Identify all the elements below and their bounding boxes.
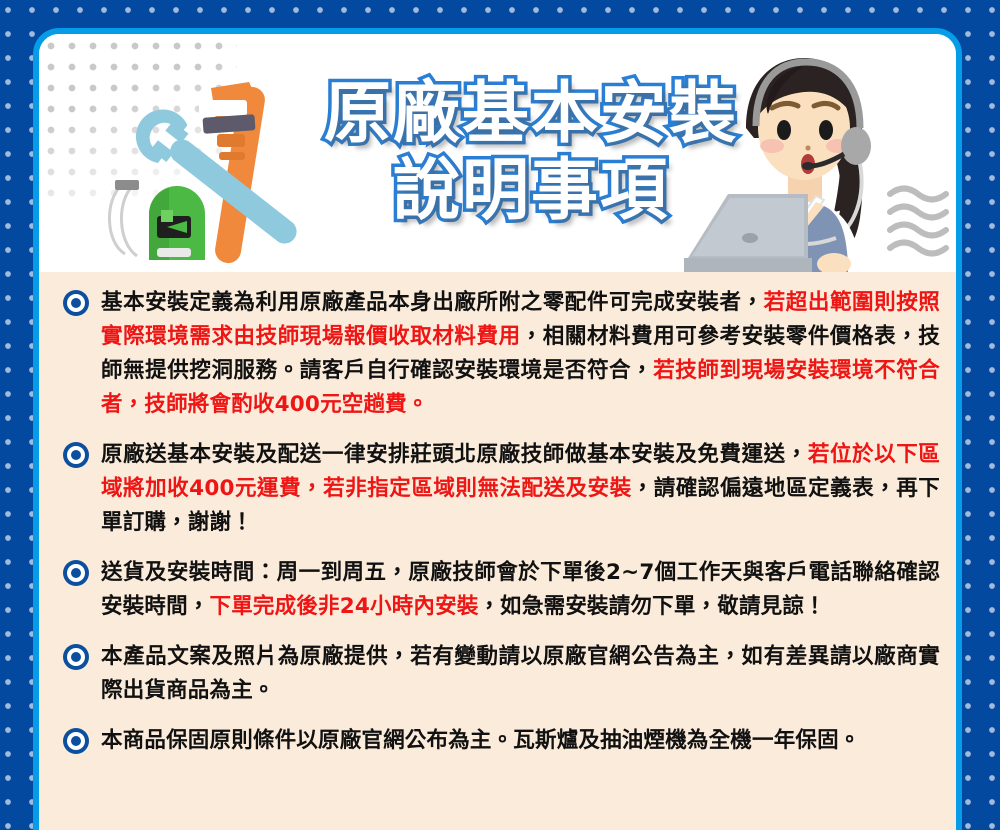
bullet-target-icon [63, 290, 89, 316]
list-item: 原廠送基本安裝及配送一律安排莊頭北原廠技師做基本安裝及免費運送，若位於以下區域將… [55, 438, 940, 540]
notice-body: 基本安裝定義為利用原廠產品本身出廠所附之零配件可完成安裝者，若超出範圍則按照實際… [39, 272, 956, 830]
bullet-target-icon [63, 560, 89, 586]
bullet-target-icon [63, 728, 89, 754]
list-item: 基本安裝定義為利用原廠產品本身出廠所附之零配件可完成安裝者，若超出範圍則按照實際… [55, 286, 940, 422]
notice-bullet-list: 基本安裝定義為利用原廠產品本身出廠所附之零配件可完成安裝者，若超出範圍則按照實際… [55, 286, 940, 758]
list-item: 本商品保固原則條件以原廠官網公布為主。瓦斯爐及抽油煙機為全機一年保固。 [55, 724, 940, 758]
content-card: 原廠基本安裝 說明事項 [33, 28, 962, 830]
plain-text: 原廠送基本安裝及配送一律安排莊頭北原廠技師做基本安裝及免費運送， [101, 442, 808, 467]
highlighted-text: 下單完成後非24小時內安裝 [210, 594, 479, 619]
bullet-target-icon [63, 644, 89, 670]
plain-text: 本產品文案及照片為原廠提供，若有變動請以原廠官網公告為主，如有差異請以廠商實際出… [101, 644, 940, 703]
plain-text: 基本安裝定義為利用原廠產品本身出廠所附之零配件可完成安裝者， [101, 290, 764, 315]
plain-text: ，如急需安裝請勿下單，敬請見諒！ [479, 594, 826, 619]
bullet-text-delivery-schedule: 送貨及安裝時間：周一到周五，原廠技師會於下單後2~7個工作天與客戶電話聯絡確認安… [101, 556, 940, 624]
tape-measure-icon [109, 180, 205, 260]
poster-header: 原廠基本安裝 說明事項 [39, 34, 956, 272]
bullet-text-basic-installation-definition: 基本安裝定義為利用原廠產品本身出廠所附之零配件可完成安裝者，若超出範圍則按照實際… [101, 286, 940, 422]
list-item: 本產品文案及照片為原廠提供，若有變動請以原廠官網公告為主，如有差異請以廠商實際出… [55, 640, 940, 708]
laptop-icon [684, 194, 812, 272]
bullet-text-delivery-and-installation-arrangement: 原廠送基本安裝及配送一律安排莊頭北原廠技師做基本安裝及免費運送，若位於以下區域將… [101, 438, 940, 540]
bullet-target-icon [63, 442, 89, 468]
installation-notice-poster: 原廠基本安裝 說明事項 [0, 0, 1000, 830]
plain-text: 本商品保固原則條件以原廠官網公布為主。瓦斯爐及抽油煙機為全機一年保固。 [101, 728, 861, 753]
bullet-text-product-copy-and-photos: 本產品文案及照片為原廠提供，若有變動請以原廠官網公告為主，如有差異請以廠商實際出… [101, 640, 940, 708]
list-item: 送貨及安裝時間：周一到周五，原廠技師會於下單後2~7個工作天與客戶電話聯絡確認安… [55, 556, 940, 624]
sound-waves-icon [886, 182, 950, 266]
bullet-text-warranty-policy: 本商品保固原則條件以原廠官網公布為主。瓦斯爐及抽油煙機為全機一年保固。 [101, 724, 940, 758]
